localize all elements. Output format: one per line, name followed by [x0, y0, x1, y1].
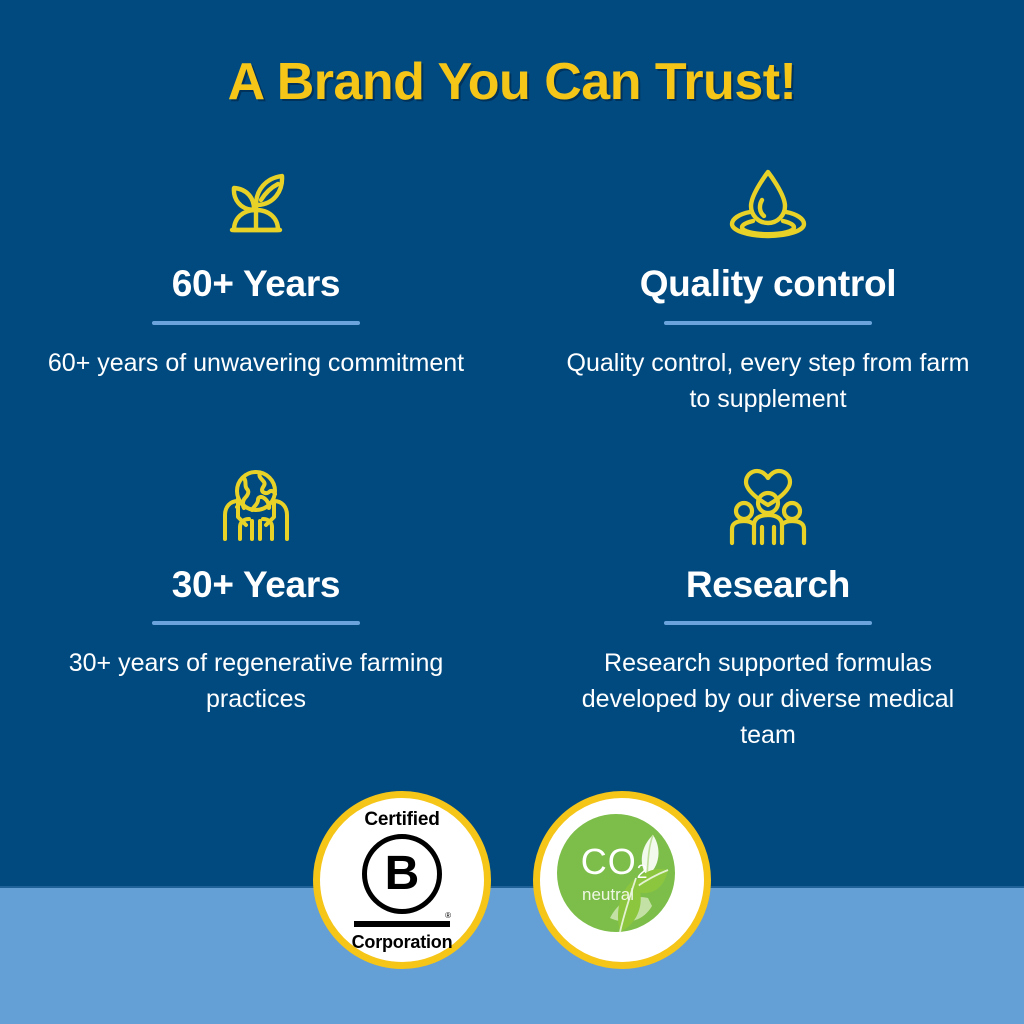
- feature-rule: [152, 621, 360, 625]
- people-heart-icon: [724, 461, 812, 553]
- feature-card-years-30: 30+ Years 30+ years of regenerative farm…: [0, 461, 512, 754]
- feature-heading: 60+ Years: [172, 264, 340, 305]
- co2-neutral-text: neutral: [550, 886, 666, 903]
- feature-card-quality-control: Quality control Quality control, every s…: [512, 160, 1024, 417]
- bcorp-divider-bar: [354, 921, 450, 927]
- bcorp-b-letter: B: [362, 834, 442, 914]
- feature-rule: [664, 321, 872, 325]
- co2-subscript: 2: [637, 862, 648, 883]
- page-title: A Brand You Can Trust!: [0, 52, 1024, 112]
- feature-card-research: Research Research supported formulas dev…: [512, 461, 1024, 754]
- feature-heading: Research: [686, 565, 850, 606]
- feature-rule: [664, 621, 872, 625]
- certification-badges: Certified B ® Corporation: [0, 791, 1024, 969]
- b-corporation-badge: Certified B ® Corporation: [313, 791, 491, 969]
- bcorp-bar-group: ®: [354, 921, 450, 927]
- feature-card-years-60: 60+ Years 60+ years of unwavering commit…: [0, 160, 512, 417]
- feature-description: 30+ years of regenerative farming practi…: [41, 645, 471, 717]
- features-row-1: 60+ Years 60+ years of unwavering commit…: [0, 160, 1024, 417]
- feature-description: Research supported formulas developed by…: [553, 645, 983, 753]
- sprout-icon: [214, 160, 298, 252]
- features-grid: 60+ Years 60+ years of unwavering commit…: [0, 160, 1024, 753]
- co2-label: CO2 neutral: [562, 844, 666, 903]
- feature-description: 60+ years of unwavering commitment: [48, 345, 464, 381]
- features-row-2: 30+ Years 30+ years of regenerative farm…: [0, 461, 1024, 754]
- feature-heading: 30+ Years: [172, 565, 340, 606]
- bcorp-certified-label: Certified: [364, 810, 439, 829]
- infographic-poster: A Brand You Can Trust! 60+ Years 60+ ye: [0, 0, 1024, 1024]
- bcorp-corporation-label: Corporation: [352, 933, 453, 951]
- feature-rule: [152, 321, 360, 325]
- co2-badge-content: CO2 neutral: [552, 810, 692, 950]
- b-corporation-badge-content: Certified B ® Corporation: [337, 810, 467, 951]
- globe-in-hands-icon: [214, 461, 298, 553]
- co2-neutral-badge: CO2 neutral: [533, 791, 711, 969]
- feature-description: Quality control, every step from farm to…: [553, 345, 983, 417]
- water-droplet-icon: [722, 160, 814, 252]
- registered-trademark-icon: ®: [445, 912, 451, 920]
- co2-main-text: CO: [581, 841, 637, 882]
- feature-heading: Quality control: [640, 264, 897, 305]
